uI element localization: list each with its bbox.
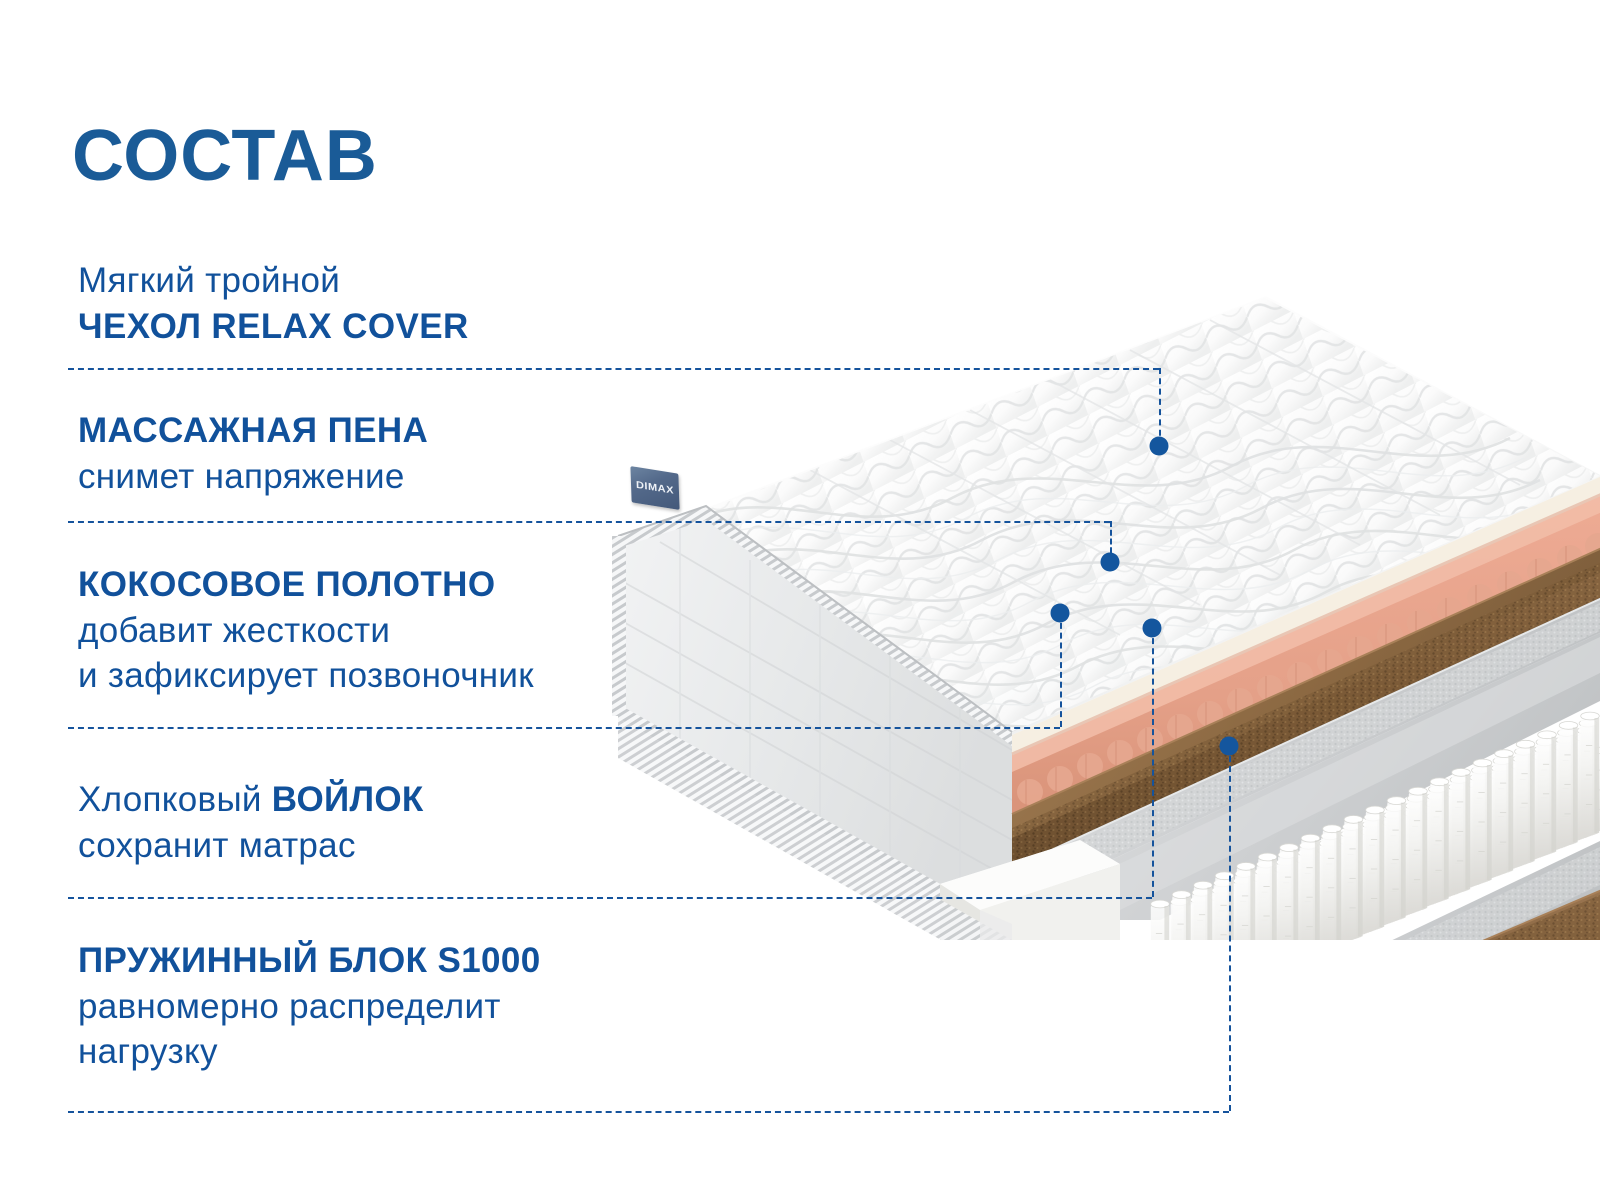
- dot-springs: [1220, 737, 1239, 756]
- callout-felt-line1-bold: ВОЙЛОК: [272, 780, 424, 819]
- callout-foam-line1: МАССАЖНАЯ ПЕНА: [78, 408, 428, 454]
- callout-springs: ПРУЖИННЫЙ БЛОК S1000 равномерно распреде…: [78, 938, 541, 1075]
- callout-felt-line1-prefix: Хлопковый: [78, 780, 272, 819]
- page-title: СОСТАВ: [72, 120, 378, 192]
- callout-cover-line1: Мягкий тройной: [78, 258, 469, 304]
- dot-coconut: [1051, 604, 1070, 623]
- callout-massage-foam: МАССАЖНАЯ ПЕНА снимет напряжение: [78, 408, 428, 499]
- callout-felt-line1: Хлопковый ВОЙЛОК: [78, 777, 424, 823]
- callout-felt: Хлопковый ВОЙЛОК сохранит матрас: [78, 777, 424, 868]
- mattress-illustration: [560, 280, 1600, 940]
- callout-coconut-line2: добавит жесткости: [78, 608, 534, 654]
- callout-coconut: КОКОСОВОЕ ПОЛОТНО добавит жесткости и за…: [78, 562, 534, 699]
- dot-cover: [1150, 437, 1169, 456]
- brand-logo: DIMAX: [630, 466, 679, 510]
- dot-massage-foam: [1101, 553, 1120, 572]
- callout-coconut-line3: и зафиксирует позвоночник: [78, 653, 534, 699]
- callout-cover-line2: ЧЕХОЛ RELAX COVER: [78, 304, 469, 350]
- callout-springs-line1: ПРУЖИННЫЙ БЛОК S1000: [78, 938, 541, 984]
- dot-felt: [1143, 619, 1162, 638]
- callout-springs-line2: равномерно распределит: [78, 984, 541, 1030]
- callout-coconut-line1: КОКОСОВОЕ ПОЛОТНО: [78, 562, 534, 608]
- callout-felt-line2: сохранит матрас: [78, 823, 424, 869]
- callout-foam-line2: снимет напряжение: [78, 454, 428, 500]
- callout-springs-line3: нагрузку: [78, 1029, 541, 1075]
- callout-cover: Мягкий тройной ЧЕХОЛ RELAX COVER: [78, 258, 469, 349]
- infographic-page: СОСТАВ: [0, 0, 1600, 1200]
- brand-logo-text: DIMAX: [636, 480, 674, 497]
